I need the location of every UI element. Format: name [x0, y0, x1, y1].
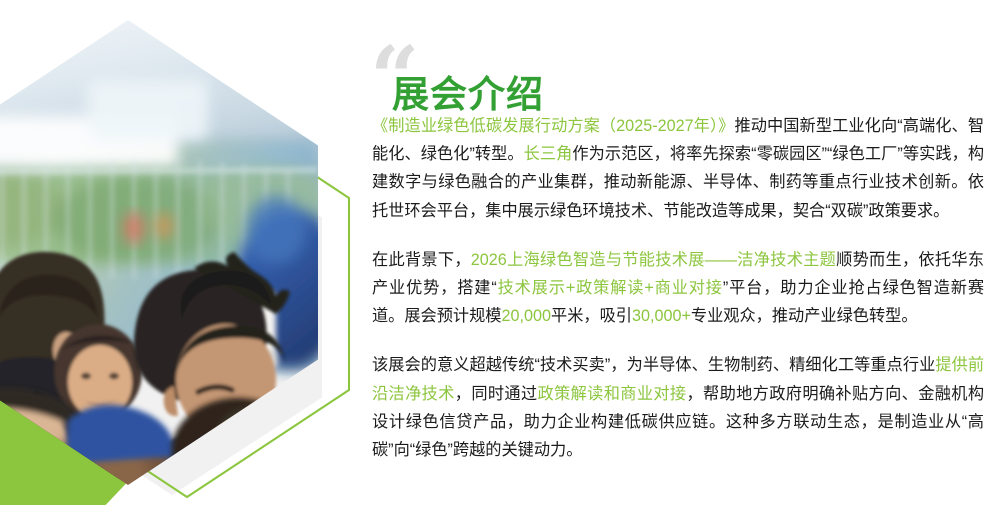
text-run: 该展会的意义超越传统“技术买卖”，为半导体、生物制药、精细化工等重点行业 — [372, 356, 935, 374]
hero-visual-block — [0, 0, 345, 501]
intro-body-copy: 《制造业绿色低碳发展行动方案（2025-2027年）》推动中国新型工业化向“高端… — [372, 112, 984, 464]
text-run: 专业观众，推动产业绿色转型。 — [691, 307, 918, 325]
page-title: 展会介绍 — [392, 75, 544, 116]
text-run: 平米，吸引 — [551, 307, 632, 325]
text-run: ，同时通过 — [455, 385, 538, 403]
text-run: 在此背景下， — [372, 251, 471, 269]
highlight-run: 长三角 — [524, 145, 573, 163]
highlight-run: 《制造业绿色低碳发展行动方案（2025-2027年）》 — [372, 117, 734, 135]
highlight-run: 30,000+ — [632, 307, 691, 325]
highlight-run: 20,000 — [502, 307, 552, 325]
paragraph-3: 该展会的意义超越传统“技术买卖”，为半导体、生物制药、精细化工等重点行业提供前沿… — [372, 351, 984, 464]
paragraph-1: 《制造业绿色低碳发展行动方案（2025-2027年）》推动中国新型工业化向“高端… — [372, 112, 984, 225]
highlight-run: 技术展示+政策解读+商业对接 — [497, 279, 723, 297]
paragraph-2: 在此背景下，2026上海绿色智造与节能技术展——洁净技术主题顺势而生，依托华东产… — [372, 246, 984, 331]
intro-section: “ 展会介绍 《制造业绿色低碳发展行动方案（2025-2027年）》推动中国新型… — [370, 0, 984, 501]
highlight-run: 2026上海绿色智造与节能技术展——洁净技术主题 — [471, 251, 836, 269]
highlight-run: 政策解读和商业对接 — [538, 385, 687, 403]
